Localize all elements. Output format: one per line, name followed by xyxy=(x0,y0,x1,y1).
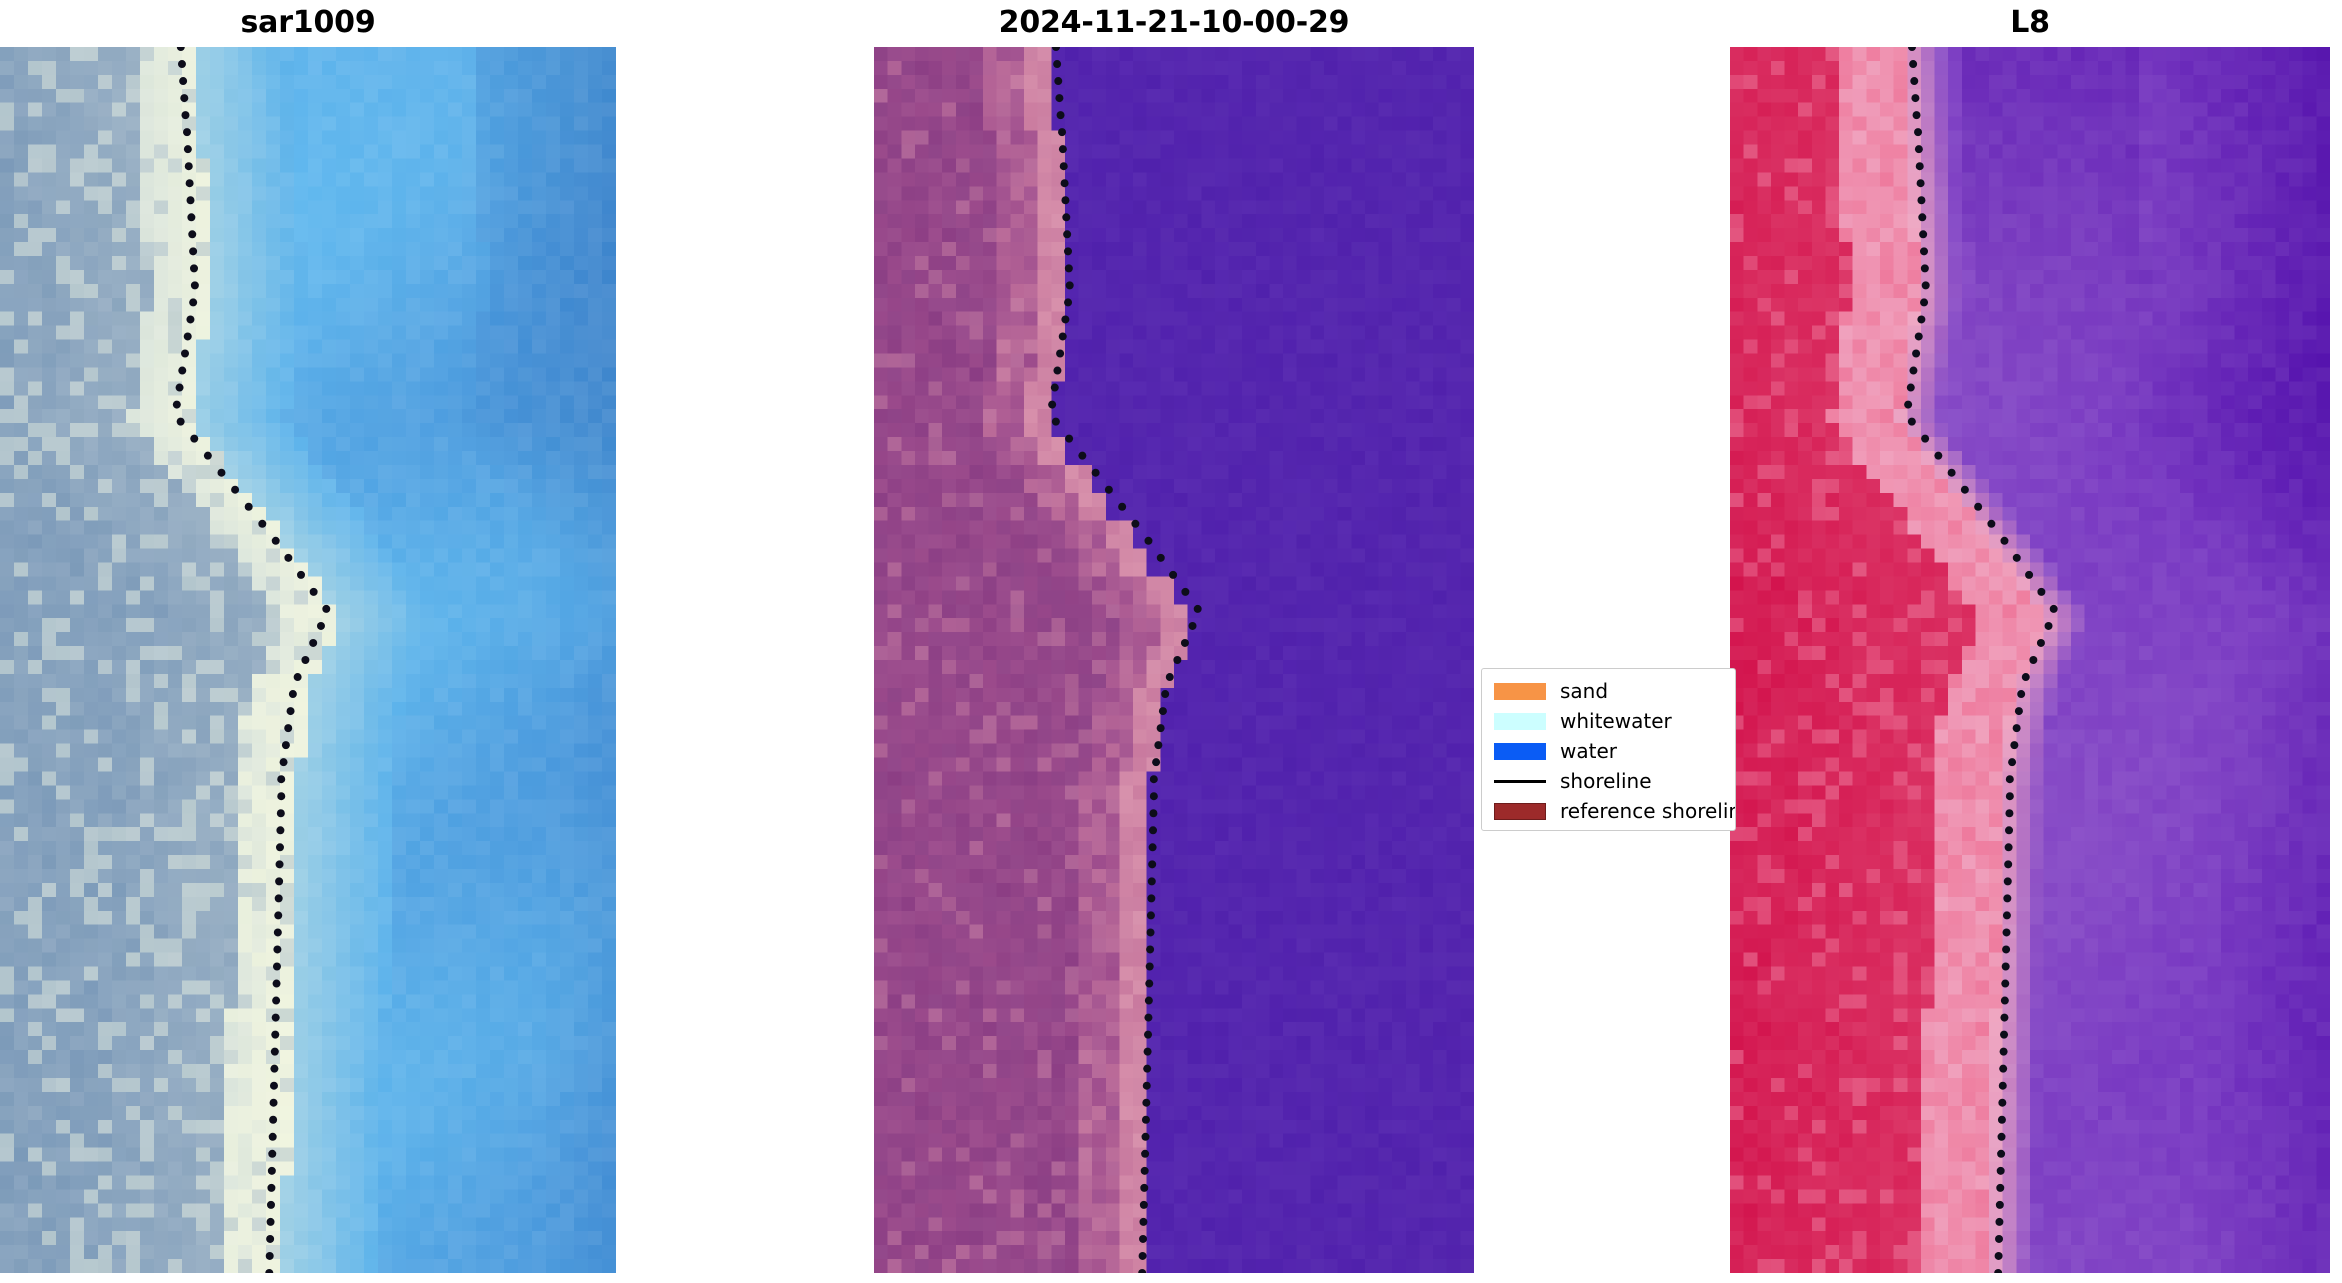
legend-label-sand: sand xyxy=(1560,679,1608,703)
legend-box: sand whitewater water shoreline referenc… xyxy=(1481,668,1736,831)
water-swatch-icon xyxy=(1494,743,1546,760)
panel-l8[interactable] xyxy=(1730,47,2330,1273)
legend-item-whitewater: whitewater xyxy=(1482,706,1735,736)
panel-classified-date[interactable] xyxy=(874,47,1474,1273)
legend-label-water: water xyxy=(1560,739,1617,763)
panel-title-sar: sar1009 xyxy=(0,5,616,41)
raster-classified xyxy=(874,47,1474,1273)
sand-swatch-icon xyxy=(1494,683,1546,700)
legend-label-whitewater: whitewater xyxy=(1560,709,1672,733)
panel-title-date: 2024-11-21-10-00-29 xyxy=(874,5,1474,41)
legend-item-water: water xyxy=(1482,736,1735,766)
shoreline-comparison-figure: sar1009 2024-11-21-10-00-29 L8 sand whit… xyxy=(0,0,2342,1283)
panel-sar1009[interactable] xyxy=(0,47,616,1273)
reference-shoreline-swatch-icon xyxy=(1494,803,1546,820)
legend-label-shoreline: shoreline xyxy=(1560,769,1652,793)
shoreline-line-icon xyxy=(1494,780,1546,783)
raster-sar1009 xyxy=(0,47,616,1273)
raster-l8 xyxy=(1730,47,2330,1273)
legend-item-shoreline: shoreline xyxy=(1482,766,1735,796)
legend-item-reference-shoreline: reference shoreline xyxy=(1482,796,1735,826)
legend-label-reference-shoreline: reference shoreline xyxy=(1560,799,1736,823)
legend-item-sand: sand xyxy=(1482,676,1735,706)
panel-title-l8: L8 xyxy=(1730,5,2330,41)
whitewater-swatch-icon xyxy=(1494,713,1546,730)
